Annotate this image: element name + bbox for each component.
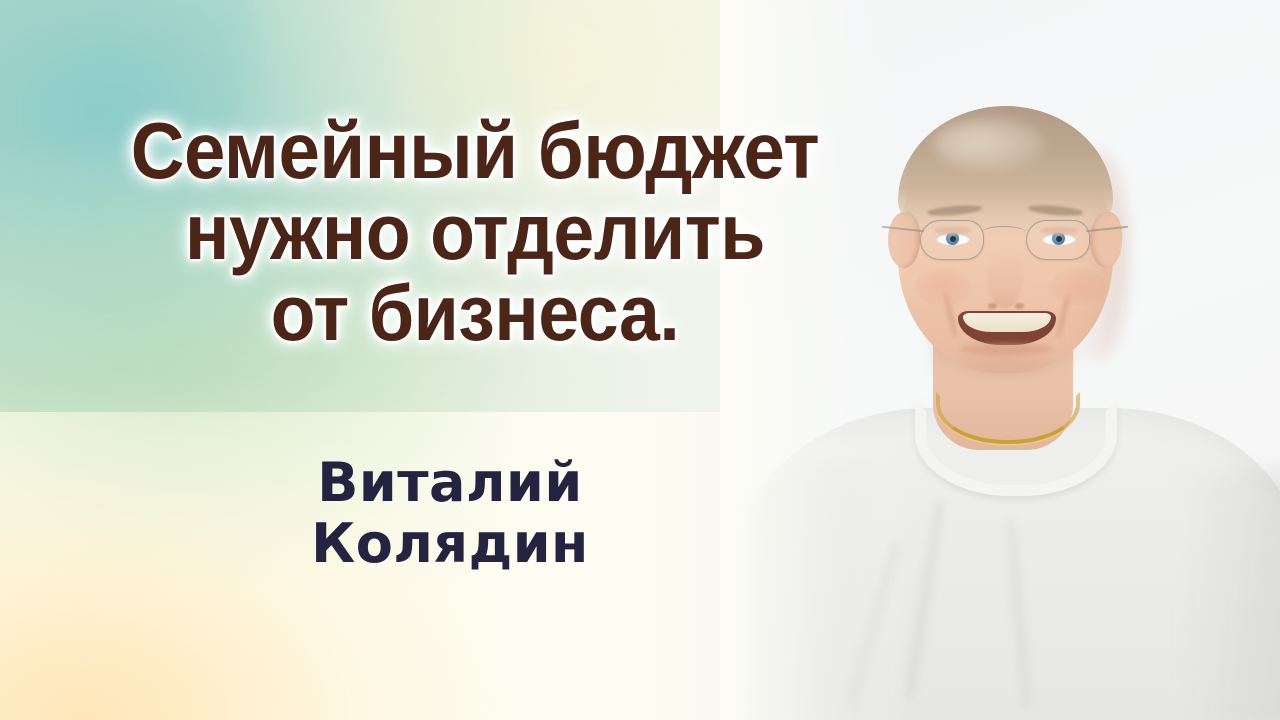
nostril-left bbox=[988, 303, 997, 309]
glasses-lens-right bbox=[1026, 220, 1090, 260]
nostril-right bbox=[1015, 303, 1024, 309]
tshirt-shadow-right bbox=[1180, 470, 1280, 720]
speaker-last-name: Колядин bbox=[0, 513, 900, 574]
teeth bbox=[963, 313, 1051, 332]
title-line-1: Семейный бюджет bbox=[33, 112, 917, 190]
speaker-name: Виталий Колядин bbox=[0, 452, 900, 574]
thumbnail-title: Семейный бюджет нужно отделить от бизнес… bbox=[0, 112, 950, 354]
hair-highlight bbox=[934, 118, 1044, 170]
title-line-3: от бизнеса. bbox=[33, 274, 917, 351]
cheek-right bbox=[1050, 268, 1106, 306]
chin-shadow bbox=[958, 352, 1054, 380]
video-thumbnail: Семейный бюджет нужно отделить от бизнес… bbox=[0, 0, 1280, 720]
title-line-2: нужно отделить bbox=[33, 193, 917, 270]
speaker-first-name: Виталий bbox=[0, 452, 900, 513]
glasses-bridge bbox=[982, 226, 1026, 238]
nose bbox=[988, 250, 1022, 308]
